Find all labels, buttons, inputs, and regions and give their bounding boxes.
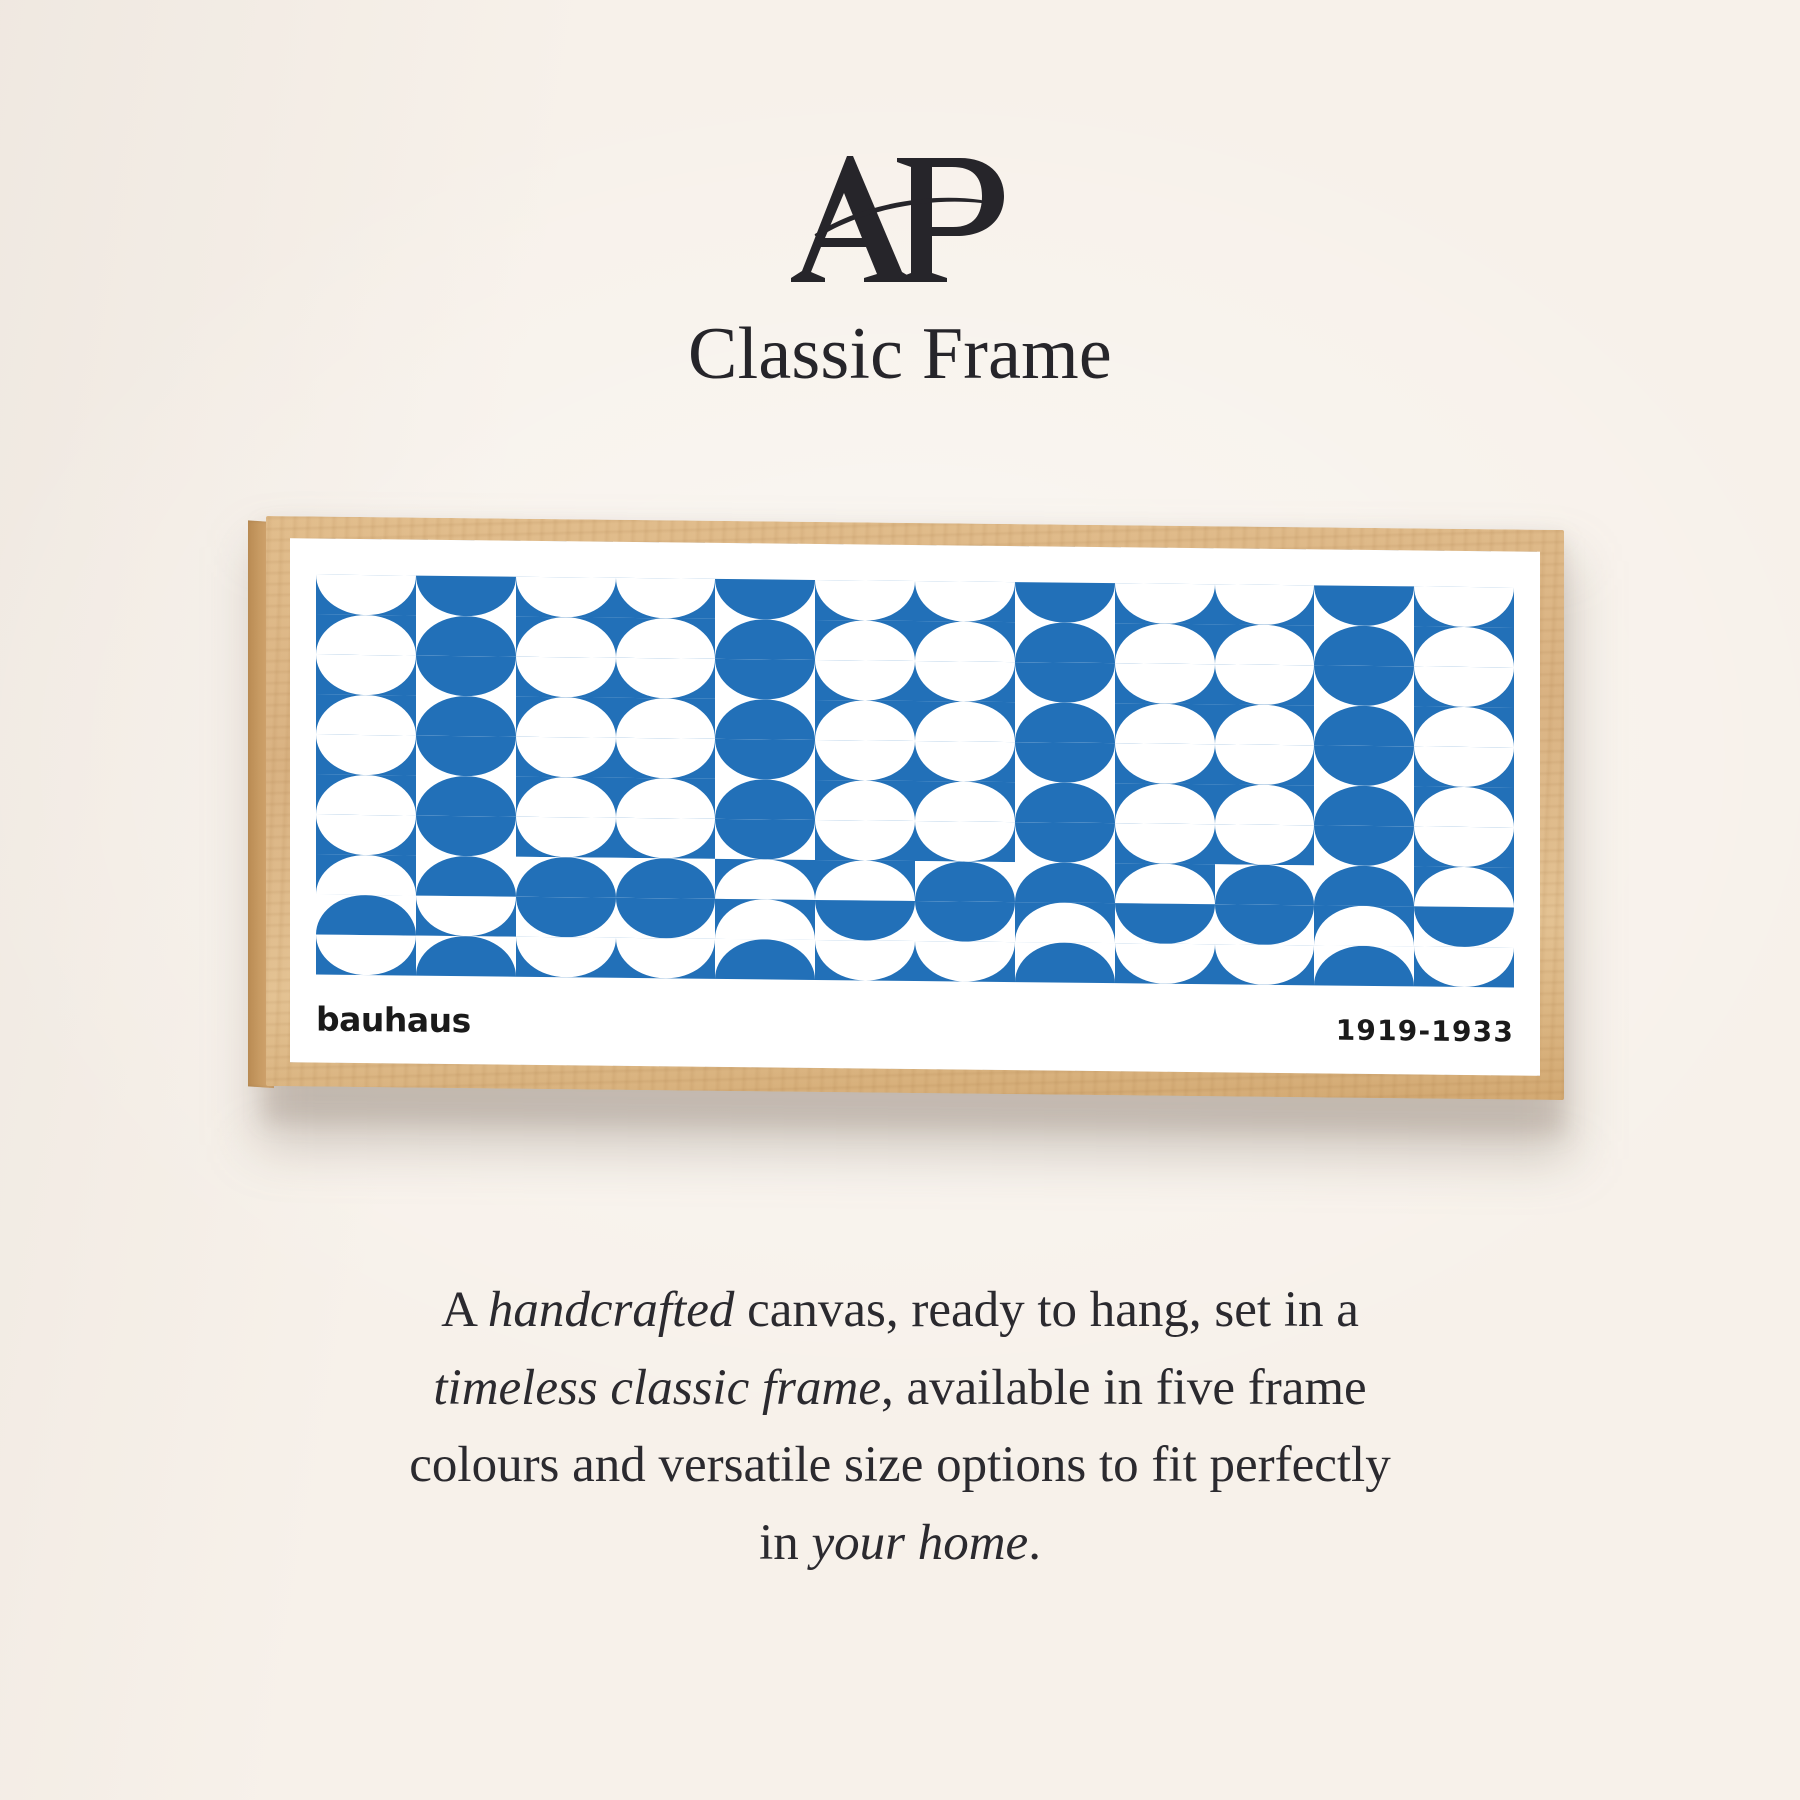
- pattern-cell: [1115, 863, 1215, 904]
- pattern-cell: [1414, 786, 1514, 827]
- poster-artwork: bauhaus 1919-1933: [290, 538, 1540, 1076]
- pattern-cell: [416, 776, 516, 817]
- semicircle-shape: [715, 779, 815, 820]
- pattern-cell: [715, 779, 815, 820]
- pattern-cell: [1414, 866, 1514, 907]
- pattern-cell: [1414, 826, 1514, 867]
- semicircle-shape: [715, 939, 815, 980]
- pattern-cell: [616, 818, 716, 859]
- pattern-cell: [316, 735, 416, 776]
- semicircle-shape: [316, 655, 416, 696]
- product-listing-page: Classic Frame bauhaus 1919-1933 A handcr…: [0, 0, 1800, 1800]
- semicircle-shape: [416, 856, 516, 897]
- pattern-cell: [616, 898, 716, 939]
- semicircle-shape: [815, 860, 915, 901]
- semicircle-shape: [1314, 945, 1414, 986]
- pattern-cell: [1215, 584, 1315, 625]
- semicircle-shape: [1314, 785, 1414, 826]
- pattern-cell: [416, 856, 516, 897]
- semicircle-shape: [815, 660, 915, 701]
- semicircle-shape: [616, 938, 716, 979]
- semicircle-shape: [316, 855, 416, 896]
- pattern-cell: [516, 617, 616, 658]
- pattern-cell: [1215, 824, 1315, 865]
- semicircle-shape: [416, 776, 516, 817]
- semicircle-shape: [516, 577, 616, 618]
- pattern-cell: [915, 941, 1015, 982]
- semicircle-shape: [815, 580, 915, 621]
- semicircle-shape: [1414, 906, 1514, 947]
- semicircle-shape: [1115, 743, 1215, 784]
- pattern-cell: [715, 739, 815, 780]
- pattern-cell: [915, 901, 1015, 942]
- pattern-cell: [1015, 942, 1115, 983]
- pattern-cell: [1314, 665, 1414, 706]
- description-text: A: [441, 1282, 488, 1338]
- pattern-cell: [1115, 943, 1215, 984]
- pattern-cell: [1115, 903, 1215, 944]
- poster-dates-label: 1919-1933: [1336, 1013, 1514, 1048]
- pattern-cell: [416, 696, 516, 737]
- semicircle-shape: [1115, 783, 1215, 824]
- pattern-cell: [516, 817, 616, 858]
- picture-frame: bauhaus 1919-1933: [266, 516, 1564, 1100]
- description-line: colours and versatile size options to fi…: [250, 1427, 1550, 1505]
- semicircle-shape: [1314, 705, 1414, 746]
- semicircle-shape: [915, 581, 1015, 622]
- pattern-cell: [516, 777, 616, 818]
- pattern-cell: [1215, 864, 1315, 905]
- semicircle-shape: [915, 701, 1015, 742]
- pattern-cell: [715, 699, 815, 740]
- brand-logo[interactable]: [0, 148, 1800, 298]
- semicircle-shape: [1115, 943, 1215, 984]
- semicircle-shape: [1115, 623, 1215, 664]
- semicircle-shape: [1314, 865, 1414, 906]
- semicircle-shape: [915, 941, 1015, 982]
- pattern-cell: [516, 737, 616, 778]
- semicircle-shape: [616, 898, 716, 939]
- pattern-cell: [915, 861, 1015, 902]
- pattern-cell: [1115, 663, 1215, 704]
- pattern-cell: [516, 657, 616, 698]
- semicircle-shape: [416, 616, 516, 657]
- pattern-cell: [1215, 704, 1315, 745]
- semicircle-shape: [1314, 905, 1414, 946]
- semicircle-shape: [1015, 862, 1115, 903]
- semicircle-shape: [1015, 902, 1115, 943]
- description-emphasis: your home: [811, 1515, 1028, 1571]
- pattern-cell: [616, 858, 716, 899]
- pattern-cell: [1015, 702, 1115, 743]
- pattern-cell: [715, 579, 815, 620]
- semicircle-shape: [815, 620, 915, 661]
- pattern-cell: [1215, 784, 1315, 825]
- pattern-cell: [1414, 666, 1514, 707]
- pattern-cell: [815, 900, 915, 941]
- semicircle-shape: [316, 775, 416, 816]
- pattern-cell: [1414, 586, 1514, 627]
- description-text: , available in five frame: [881, 1360, 1367, 1416]
- pattern-cell: [1015, 662, 1115, 703]
- semicircle-shape: [616, 618, 716, 659]
- semicircle-shape: [815, 940, 915, 981]
- semicircle-shape: [1314, 665, 1414, 706]
- pattern-cell: [915, 701, 1015, 742]
- pattern-cell: [915, 741, 1015, 782]
- semicircle-shape: [516, 617, 616, 658]
- semicircle-shape: [616, 578, 716, 619]
- pattern-cell: [1414, 906, 1514, 947]
- pattern-cell: [1215, 624, 1315, 665]
- pattern-cell: [1115, 623, 1215, 664]
- semicircle-shape: [1215, 664, 1315, 705]
- pattern-cell: [316, 695, 416, 736]
- canvas-mount: bauhaus 1919-1933: [290, 538, 1540, 1076]
- semicircle-shape: [616, 778, 716, 819]
- pattern-cell: [516, 897, 616, 938]
- semicircle-shape: [516, 817, 616, 858]
- pattern-cell: [915, 781, 1015, 822]
- pattern-cell: [1015, 902, 1115, 943]
- pattern-cell: [616, 698, 716, 739]
- pattern-cell: [416, 936, 516, 977]
- pattern-cell: [1314, 585, 1414, 626]
- pattern-cell: [1015, 742, 1115, 783]
- semicircle-shape: [1414, 786, 1514, 827]
- pattern-cell: [815, 940, 915, 981]
- semicircle-shape: [1314, 745, 1414, 786]
- semicircle-shape: [616, 858, 716, 899]
- semicircle-shape: [715, 659, 815, 700]
- semicircle-shape: [1414, 946, 1514, 987]
- poster-footer: bauhaus 1919-1933: [316, 993, 1514, 1058]
- semicircle-shape: [1215, 824, 1315, 865]
- semicircle-shape: [1215, 904, 1315, 945]
- semicircle-shape: [1115, 703, 1215, 744]
- semicircle-shape: [1115, 583, 1215, 624]
- pattern-cell: [416, 816, 516, 857]
- pattern-cell: [715, 939, 815, 980]
- semicircle-shape: [1215, 584, 1315, 625]
- semicircle-shape: [516, 657, 616, 698]
- semicircle-shape: [1015, 942, 1115, 983]
- pattern-cell: [815, 660, 915, 701]
- semicircle-shape: [715, 699, 815, 740]
- semicircle-shape: [815, 820, 915, 861]
- semicircle-shape: [416, 736, 516, 777]
- poster-pattern-grid: [316, 575, 1514, 988]
- pattern-cell: [416, 896, 516, 937]
- semicircle-shape: [516, 777, 616, 818]
- semicircle-shape: [416, 656, 516, 697]
- pattern-cell: [1314, 705, 1414, 746]
- description-text: .: [1028, 1515, 1041, 1571]
- semicircle-shape: [316, 575, 416, 616]
- framed-artwork[interactable]: bauhaus 1919-1933: [248, 516, 1578, 1156]
- pattern-cell: [1414, 626, 1514, 667]
- pattern-cell: [616, 658, 716, 699]
- semicircle-shape: [1215, 864, 1315, 905]
- semicircle-shape: [1414, 626, 1514, 667]
- semicircle-shape: [1115, 823, 1215, 864]
- description-text: canvas, ready to hang, set in a: [734, 1282, 1359, 1338]
- pattern-cell: [1115, 783, 1215, 824]
- semicircle-shape: [516, 737, 616, 778]
- semicircle-shape: [715, 819, 815, 860]
- semicircle-shape: [616, 658, 716, 699]
- semicircle-shape: [316, 735, 416, 776]
- pattern-cell: [1314, 865, 1414, 906]
- product-description: A handcrafted canvas, ready to hang, set…: [250, 1272, 1550, 1582]
- pattern-cell: [616, 618, 716, 659]
- semicircle-shape: [416, 936, 516, 977]
- semicircle-shape: [1215, 944, 1315, 985]
- semicircle-shape: [1414, 586, 1514, 627]
- semicircle-shape: [1015, 702, 1115, 743]
- semicircle-shape: [616, 738, 716, 779]
- semicircle-shape: [715, 579, 815, 620]
- pattern-cell: [1115, 583, 1215, 624]
- pattern-cell: [1015, 782, 1115, 823]
- pattern-cell: [1215, 744, 1315, 785]
- semicircle-shape: [1314, 585, 1414, 626]
- pattern-cell: [1314, 945, 1414, 986]
- semicircle-shape: [516, 937, 616, 978]
- pattern-cell: [715, 859, 815, 900]
- semicircle-shape: [1414, 706, 1514, 747]
- pattern-cell: [316, 655, 416, 696]
- poster-brand-label: bauhaus: [316, 999, 471, 1040]
- semicircle-shape: [316, 815, 416, 856]
- semicircle-shape: [1115, 663, 1215, 704]
- semicircle-shape: [1115, 863, 1215, 904]
- description-emphasis: handcrafted: [488, 1282, 734, 1338]
- pattern-cell: [1414, 706, 1514, 747]
- page-title: Classic Frame: [0, 316, 1800, 394]
- pattern-cell: [1314, 625, 1414, 666]
- pattern-cell: [616, 578, 716, 619]
- semicircle-shape: [516, 857, 616, 898]
- semicircle-shape: [1314, 625, 1414, 666]
- semicircle-shape: [1015, 662, 1115, 703]
- pattern-cell: [516, 577, 616, 618]
- pattern-cell: [1414, 946, 1514, 987]
- semicircle-shape: [1015, 782, 1115, 823]
- semicircle-shape: [316, 695, 416, 736]
- pattern-cell: [1115, 743, 1215, 784]
- pattern-cell: [1314, 905, 1414, 946]
- pattern-cell: [416, 616, 516, 657]
- semicircle-shape: [1215, 624, 1315, 665]
- pattern-cell: [1015, 622, 1115, 663]
- pattern-cell: [316, 775, 416, 816]
- semicircle-shape: [815, 700, 915, 741]
- semicircle-shape: [915, 741, 1015, 782]
- ap-monogram-icon: [785, 148, 1015, 298]
- semicircle-shape: [316, 935, 416, 976]
- pattern-cell: [915, 621, 1015, 662]
- pattern-cell: [815, 860, 915, 901]
- semicircle-shape: [1015, 822, 1115, 863]
- pattern-cell: [616, 778, 716, 819]
- pattern-cell: [1314, 745, 1414, 786]
- semicircle-shape: [616, 698, 716, 739]
- semicircle-shape: [1414, 666, 1514, 707]
- pattern-cell: [715, 899, 815, 940]
- pattern-cell: [316, 615, 416, 656]
- semicircle-shape: [815, 900, 915, 941]
- semicircle-shape: [915, 661, 1015, 702]
- semicircle-shape: [616, 818, 716, 859]
- pattern-cell: [516, 857, 616, 898]
- semicircle-shape: [1015, 582, 1115, 623]
- semicircle-shape: [1215, 704, 1315, 745]
- semicircle-shape: [915, 821, 1015, 862]
- semicircle-shape: [1414, 866, 1514, 907]
- pattern-cell: [815, 580, 915, 621]
- pattern-cell: [516, 937, 616, 978]
- pattern-cell: [1115, 703, 1215, 744]
- pattern-cell: [715, 619, 815, 660]
- semicircle-shape: [416, 896, 516, 937]
- semicircle-shape: [915, 621, 1015, 662]
- semicircle-shape: [915, 781, 1015, 822]
- semicircle-shape: [1015, 742, 1115, 783]
- pattern-cell: [815, 700, 915, 741]
- pattern-cell: [815, 620, 915, 661]
- semicircle-shape: [1314, 825, 1414, 866]
- semicircle-shape: [1115, 903, 1215, 944]
- semicircle-shape: [1215, 784, 1315, 825]
- semicircle-shape: [1215, 744, 1315, 785]
- description-emphasis: timeless classic frame: [433, 1360, 881, 1416]
- semicircle-shape: [1414, 746, 1514, 787]
- pattern-cell: [915, 661, 1015, 702]
- pattern-cell: [1215, 664, 1315, 705]
- pattern-cell: [316, 855, 416, 896]
- semicircle-shape: [416, 816, 516, 857]
- pattern-cell: [1414, 746, 1514, 787]
- pattern-cell: [316, 935, 416, 976]
- pattern-cell: [416, 576, 516, 617]
- description-line: timeless classic frame, available in fiv…: [250, 1350, 1550, 1428]
- pattern-cell: [1215, 904, 1315, 945]
- description-text: in: [759, 1515, 811, 1571]
- description-line: A handcrafted canvas, ready to hang, set…: [250, 1272, 1550, 1350]
- pattern-cell: [316, 575, 416, 616]
- semicircle-shape: [915, 861, 1015, 902]
- pattern-cell: [915, 581, 1015, 622]
- semicircle-shape: [516, 697, 616, 738]
- pattern-cell: [1015, 862, 1115, 903]
- semicircle-shape: [715, 619, 815, 660]
- semicircle-shape: [416, 696, 516, 737]
- semicircle-shape: [316, 615, 416, 656]
- pattern-cell: [815, 780, 915, 821]
- pattern-cell: [815, 820, 915, 861]
- pattern-cell: [715, 659, 815, 700]
- pattern-cell: [815, 740, 915, 781]
- semicircle-shape: [416, 576, 516, 617]
- pattern-cell: [616, 738, 716, 779]
- semicircle-shape: [715, 859, 815, 900]
- pattern-cell: [316, 895, 416, 936]
- pattern-cell: [915, 821, 1015, 862]
- semicircle-shape: [316, 895, 416, 936]
- semicircle-shape: [815, 780, 915, 821]
- semicircle-shape: [516, 897, 616, 938]
- semicircle-shape: [815, 740, 915, 781]
- pattern-cell: [715, 819, 815, 860]
- semicircle-shape: [1015, 622, 1115, 663]
- pattern-cell: [1015, 822, 1115, 863]
- pattern-cell: [316, 815, 416, 856]
- pattern-cell: [416, 736, 516, 777]
- semicircle-shape: [715, 899, 815, 940]
- semicircle-shape: [915, 901, 1015, 942]
- semicircle-shape: [1414, 826, 1514, 867]
- pattern-cell: [616, 938, 716, 979]
- semicircle-shape: [715, 739, 815, 780]
- description-line: in your home.: [250, 1505, 1550, 1583]
- pattern-cell: [1015, 582, 1115, 623]
- pattern-cell: [1215, 944, 1315, 985]
- pattern-cell: [1115, 823, 1215, 864]
- pattern-cell: [1314, 825, 1414, 866]
- description-text: colours and versatile size options to fi…: [409, 1437, 1390, 1493]
- pattern-cell: [516, 697, 616, 738]
- pattern-cell: [1314, 785, 1414, 826]
- pattern-cell: [416, 656, 516, 697]
